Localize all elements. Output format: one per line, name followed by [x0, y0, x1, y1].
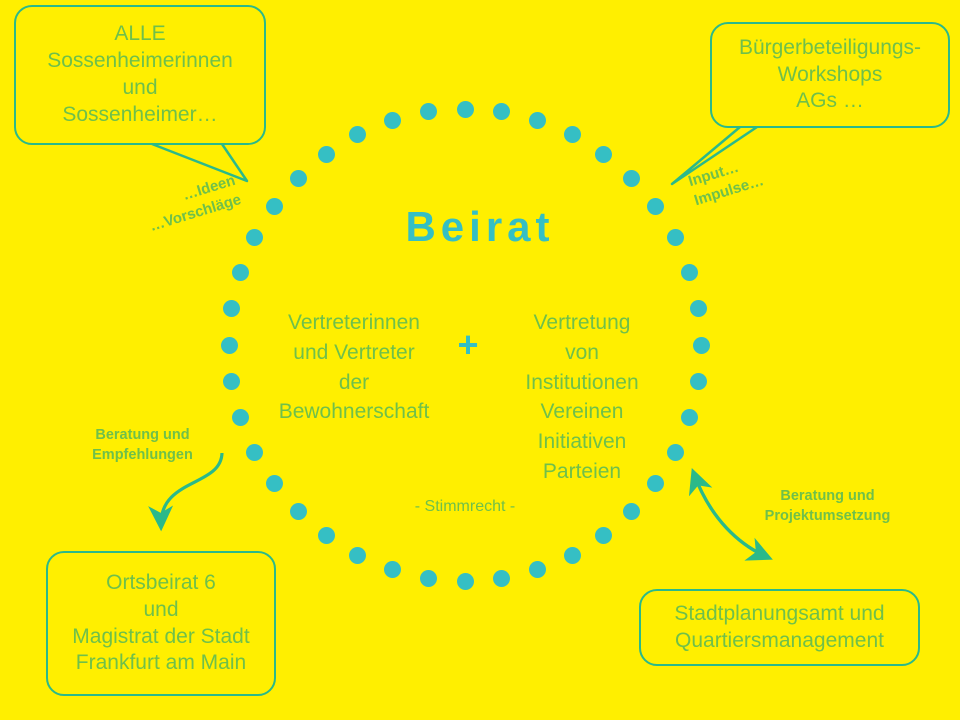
- ring-dot: [290, 503, 307, 520]
- ring-dot: [690, 300, 707, 317]
- ring-dot: [232, 409, 249, 426]
- ring-dot: [693, 337, 710, 354]
- center-left-column: Vertreterinnen und Vertreter der Bewohne…: [264, 308, 444, 427]
- ring-dot: [221, 337, 238, 354]
- ring-dot: [384, 561, 401, 578]
- box-ortsbeirat-magistrat: Ortsbeirat 6 und Magistrat der Stadt Fra…: [46, 551, 276, 696]
- ring-dot: [290, 170, 307, 187]
- ring-dot: [349, 547, 366, 564]
- center-footnote: - Stimmrecht -: [385, 498, 545, 516]
- ring-dot: [223, 300, 240, 317]
- ring-dot: [246, 444, 263, 461]
- callout-alle-sossenheimer-text: ALLE Sossenheimerinnen und Sossenheimer…: [16, 21, 264, 129]
- ring-dot: [681, 264, 698, 281]
- ring-dot: [595, 146, 612, 163]
- ring-dot: [623, 170, 640, 187]
- ring-dot: [318, 146, 335, 163]
- ring-dot: [681, 409, 698, 426]
- ring-dot: [690, 373, 707, 390]
- ring-dot: [420, 570, 437, 587]
- ring-dot: [232, 264, 249, 281]
- flow-label-beratung-empfehlungen: Beratung und Empfehlungen: [70, 426, 215, 465]
- ring-dot: [457, 573, 474, 590]
- ring-dot: [223, 373, 240, 390]
- center-right-column: Vertretung von Institutionen Vereinen In…: [492, 308, 672, 487]
- flow-label-beratung-projektumsetzung: Beratung und Projektumsetzung: [740, 487, 915, 526]
- ring-dot: [623, 503, 640, 520]
- ring-dot: [384, 112, 401, 129]
- ring-dot: [564, 126, 581, 143]
- ring-dot: [457, 101, 474, 118]
- box-stadtplanungsamt-quartiersmanagement: Stadtplanungsamt und Quartiersmanagement: [639, 589, 920, 666]
- callout-alle-sossenheimer: ALLE Sossenheimerinnen und Sossenheimer…: [14, 5, 266, 145]
- ring-dot: [564, 547, 581, 564]
- flow-label-input-impulse: Input… Impulse…: [686, 138, 813, 212]
- callout-buergerbeteiligungs-workshops-text: Bürgerbeteiligungs- Workshops AGs …: [712, 35, 948, 116]
- box-stadtplanungsamt-quartiersmanagement-text: Stadtplanungsamt und Quartiersmanagement: [641, 601, 918, 655]
- callout-buergerbeteiligungs-workshops: Bürgerbeteiligungs- Workshops AGs …: [710, 22, 950, 128]
- ring-dot: [266, 475, 283, 492]
- plus-icon: +: [447, 327, 489, 363]
- ring-dot: [493, 570, 510, 587]
- ring-dot: [420, 103, 437, 120]
- ring-dot: [349, 126, 366, 143]
- ring-dot: [529, 112, 546, 129]
- ring-dot: [595, 527, 612, 544]
- ring-dot: [529, 561, 546, 578]
- box-ortsbeirat-magistrat-text: Ortsbeirat 6 und Magistrat der Stadt Fra…: [48, 570, 274, 678]
- diagram-canvas: Beirat Vertreterinnen und Vertreter der …: [0, 0, 960, 720]
- ring-dot: [318, 527, 335, 544]
- ring-dot: [493, 103, 510, 120]
